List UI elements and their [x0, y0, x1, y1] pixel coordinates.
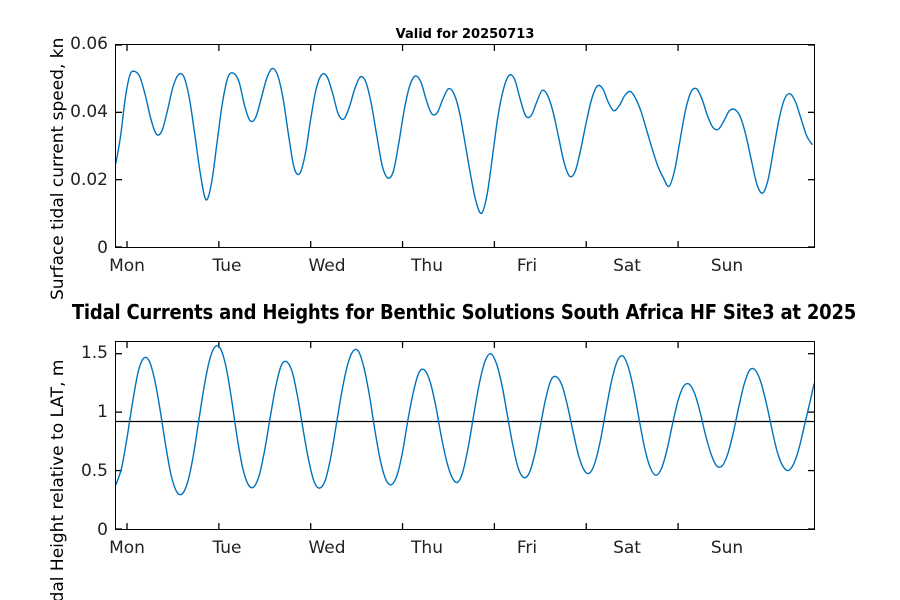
series-line-0 [116, 68, 812, 213]
ytick-top-002: 0.02 [30, 170, 108, 190]
xtick-bottom-wed: Wed [308, 538, 345, 558]
xtick-bottom-sat: Sat [613, 538, 641, 558]
xtick-bottom-fri: Fri [517, 538, 537, 558]
tidal-height-plot-area [115, 341, 815, 530]
series-line-0 [116, 346, 814, 495]
xtick-bottom-sun: Sun [711, 538, 743, 558]
xtick-top-mon: Mon [109, 256, 145, 276]
subplot-title-valid-for: Valid for 20250713 [0, 27, 900, 42]
xtick-top-sat: Sat [613, 256, 641, 276]
xtick-top-thu: Thu [411, 256, 443, 276]
xtick-bottom-mon: Mon [109, 538, 145, 558]
xtick-bottom-thu: Thu [411, 538, 443, 558]
figure-main-title: Tidal Currents and Heights for Benthic S… [0, 300, 900, 324]
xtick-top-tue: Tue [212, 256, 241, 276]
tidal-forecast-figure: Valid for 20250713 Surface tidal current… [0, 0, 900, 600]
ytick-top-0: 0 [58, 238, 108, 258]
ytick-bottom-05: 0.5 [40, 461, 108, 481]
y-axis-label-current-speed: Surface tidal current speed, kn [48, 38, 68, 300]
ytick-top-006: 0.06 [30, 34, 108, 54]
ytick-bottom-0: 0 [58, 520, 108, 540]
xtick-top-fri: Fri [517, 256, 537, 276]
ytick-bottom-1: 1 [58, 402, 108, 422]
xtick-top-sun: Sun [711, 256, 743, 276]
ytick-bottom-15: 1.5 [40, 343, 108, 363]
ytick-top-004: 0.04 [30, 102, 108, 122]
current-speed-line-chart [116, 45, 814, 247]
xtick-top-wed: Wed [308, 256, 345, 276]
axis-ticks [116, 342, 814, 529]
tidal-height-line-chart [116, 342, 814, 529]
xtick-bottom-tue: Tue [212, 538, 241, 558]
current-speed-plot-area [115, 44, 815, 248]
